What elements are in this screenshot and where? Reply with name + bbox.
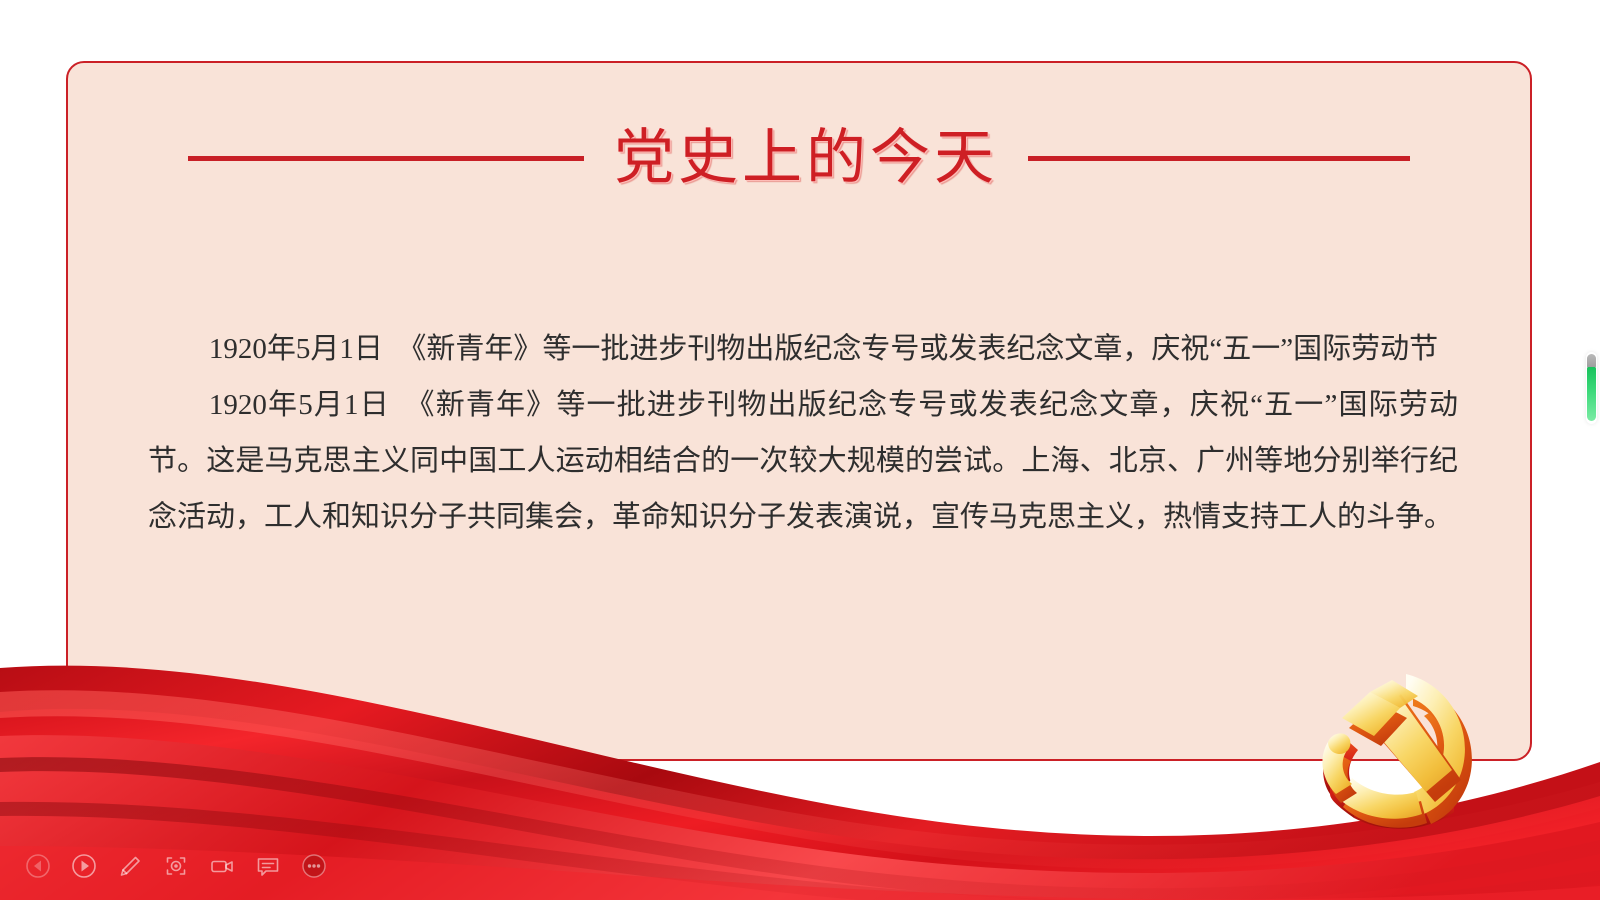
previous-slide-button[interactable] xyxy=(18,846,58,886)
title-row: 党史上的今天 xyxy=(68,103,1530,213)
pen-icon xyxy=(115,851,145,881)
scroll-thumb-cap[interactable] xyxy=(1587,354,1596,368)
video-camera-icon xyxy=(207,851,237,881)
scroll-thumb-bar[interactable] xyxy=(1587,367,1596,421)
title-rule-left xyxy=(188,156,584,161)
more-dots-icon xyxy=(299,851,329,881)
content-card: 党史上的今天 1920年5月1日 《新青年》等一批进步刊物出版纪念专号或发表纪念… xyxy=(66,61,1532,761)
record-video-button[interactable] xyxy=(202,846,242,886)
body-text: 1920年5月1日 《新青年》等一批进步刊物出版纪念专号或发表纪念文章，庆祝“五… xyxy=(148,321,1458,545)
subtitles-button[interactable] xyxy=(248,846,288,886)
scroll-indicator[interactable] xyxy=(1586,352,1597,424)
paragraph-2: 1920年5月1日 《新青年》等一批进步刊物出版纪念专号或发表纪念文章，庆祝“五… xyxy=(148,377,1458,545)
subtitle-icon xyxy=(253,851,283,881)
play-icon xyxy=(69,851,99,881)
slide-stage: 党史上的今天 1920年5月1日 《新青年》等一批进步刊物出版纪念专号或发表纪念… xyxy=(0,0,1600,900)
previous-icon xyxy=(23,851,53,881)
page-title: 党史上的今天 xyxy=(612,128,1000,188)
laser-pointer-button[interactable] xyxy=(156,846,196,886)
title-rule-right xyxy=(1028,156,1410,161)
play-slide-button[interactable] xyxy=(64,846,104,886)
pen-tool-button[interactable] xyxy=(110,846,150,886)
paragraph-1: 1920年5月1日 《新青年》等一批进步刊物出版纪念专号或发表纪念文章，庆祝“五… xyxy=(148,321,1458,377)
laser-pointer-icon xyxy=(161,851,191,881)
cpc-hammer-sickle-emblem xyxy=(1288,662,1488,842)
player-toolbar xyxy=(18,846,334,886)
more-options-button[interactable] xyxy=(294,846,334,886)
